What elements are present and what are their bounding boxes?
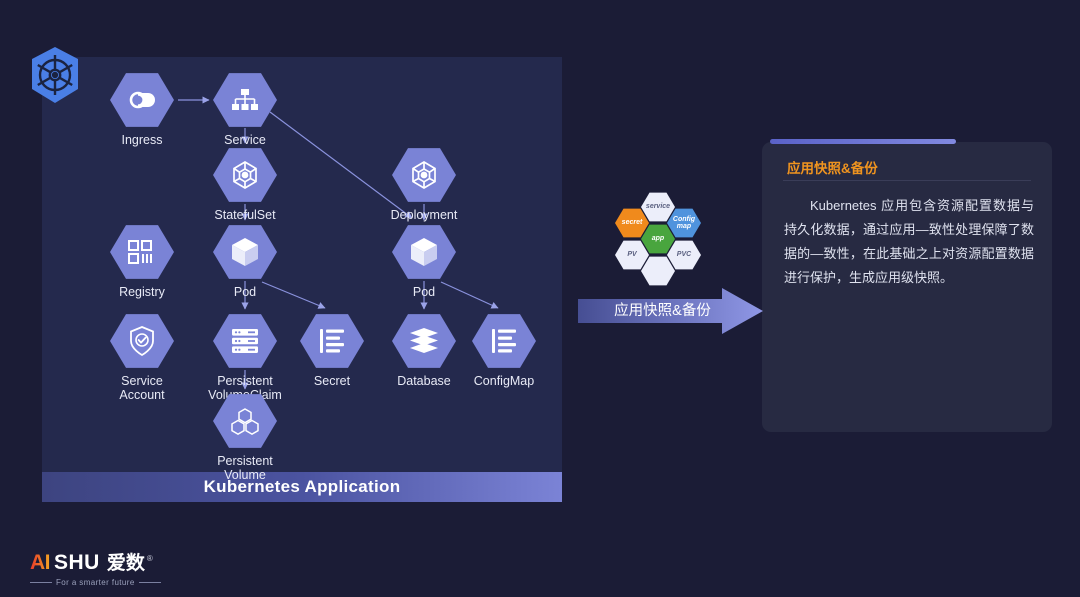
card-accent-bar	[770, 139, 956, 144]
ingress-icon	[110, 72, 174, 128]
cluster-hex-pvc: PVC	[667, 240, 701, 270]
node-label: StatefulSet	[200, 208, 290, 222]
tagline-rule-left	[30, 582, 52, 583]
node-database[interactable]: Database	[392, 313, 456, 388]
panel-footer: Kubernetes Application	[42, 472, 562, 502]
node-label: Database	[379, 374, 469, 388]
card-title: 应用快照&备份	[787, 157, 878, 177]
cluster-hex-app: app	[641, 224, 675, 254]
node-persistent-volume[interactable]: Persistent Volume	[213, 393, 277, 482]
node-label: Registry	[97, 285, 187, 299]
pod-cube-icon	[392, 224, 456, 280]
list-lines-icon	[472, 313, 536, 369]
registry-grid-icon	[110, 224, 174, 280]
database-stack-icon	[392, 313, 456, 369]
node-label: Service	[200, 133, 290, 147]
brand-ai-text: AI	[30, 551, 50, 575]
tagline-rule-right	[139, 582, 161, 583]
node-configmap[interactable]: ConfigMap	[472, 313, 536, 388]
cluster-hex-pv: PV	[615, 240, 649, 270]
tagline-text: For a smarter future	[56, 578, 135, 587]
statefulset-icon	[213, 147, 277, 203]
node-service[interactable]: Service	[213, 72, 277, 147]
three-cubes-icon	[213, 393, 277, 449]
node-registry[interactable]: Registry	[110, 224, 174, 299]
brand-chinese-text: 爱数	[107, 548, 145, 575]
cluster-hex-service: service	[641, 192, 675, 222]
node-statefulset[interactable]: StatefulSet	[213, 147, 277, 222]
node-ingress[interactable]: Ingress	[110, 72, 174, 147]
kubernetes-helm-icon	[26, 45, 84, 107]
aishu-logo: AI SHU 爱数 ® For a smarter future	[30, 548, 230, 587]
node-label: Ingress	[97, 133, 187, 147]
node-secret[interactable]: Secret	[300, 313, 364, 388]
card-body-text: Kubernetes 应用包含资源配置数据与持久化数据，通过应用—致性处理保障了…	[784, 194, 1034, 290]
shield-check-icon	[110, 313, 174, 369]
node-deployment[interactable]: Deployment	[392, 147, 456, 222]
node-label: Pod	[200, 285, 290, 299]
slide-canvas: Ingress Service	[0, 0, 1080, 597]
arrow-label: 应用快照&备份	[600, 299, 725, 320]
node-label: Pod	[379, 285, 469, 299]
node-label: Service Account	[97, 374, 187, 402]
service-tree-icon	[213, 72, 277, 128]
node-label: ConfigMap	[459, 374, 549, 388]
node-pod-left[interactable]: Pod	[213, 224, 277, 299]
cluster-hex-configmap: Config map	[667, 208, 701, 238]
registered-mark: ®	[147, 554, 153, 563]
brand-shu-text: SHU	[54, 551, 100, 575]
pod-cube-icon	[213, 224, 277, 280]
cluster-hex-blank	[641, 256, 675, 286]
deployment-icon	[392, 147, 456, 203]
app-resource-cluster: service secret Config map app PV PVC	[612, 192, 704, 284]
card-divider	[783, 180, 1031, 181]
brand-tagline: For a smarter future	[30, 578, 230, 587]
node-service-account[interactable]: Service Account	[110, 313, 174, 402]
node-label: Deployment	[379, 208, 469, 222]
node-label: Secret	[287, 374, 377, 388]
node-pod-right[interactable]: Pod	[392, 224, 456, 299]
list-lines-icon	[300, 313, 364, 369]
node-label: Persistent Volume	[200, 454, 290, 482]
storage-rack-icon	[213, 313, 277, 369]
cluster-hex-secret: secret	[615, 208, 649, 238]
node-persistent-volume-claim[interactable]: Persistent VolumeClaim	[213, 313, 277, 402]
